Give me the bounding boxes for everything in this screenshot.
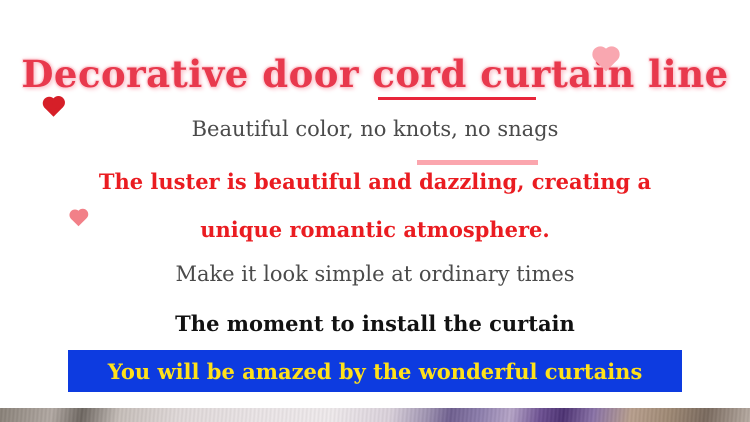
callout-text: You will be amazed by the wonderful curt… — [108, 359, 643, 384]
callout-banner: You will be amazed by the wonderful curt… — [68, 350, 682, 392]
install-moment-text: The moment to install the curtain — [0, 311, 750, 336]
heart-icon-red — [44, 98, 62, 116]
page-title: Decorative door cord curtain line — [21, 52, 728, 96]
promo-banner: Decorative door cord curtain line Beauti… — [0, 0, 750, 422]
photo-strip-texture — [0, 408, 750, 422]
product-photo-strip — [0, 408, 750, 422]
title-row: Decorative door cord curtain line — [0, 52, 750, 96]
luster-text-line-2: unique romantic atmosphere. — [0, 217, 750, 242]
highlight-bar-dazzling — [417, 160, 538, 165]
tagline-text: Beautiful color, no knots, no snags — [0, 117, 750, 141]
simple-look-text: Make it look simple at ordinary times — [0, 262, 750, 286]
title-underline — [378, 97, 536, 100]
luster-text-line-1: The luster is beautiful and dazzling, cr… — [0, 169, 750, 194]
